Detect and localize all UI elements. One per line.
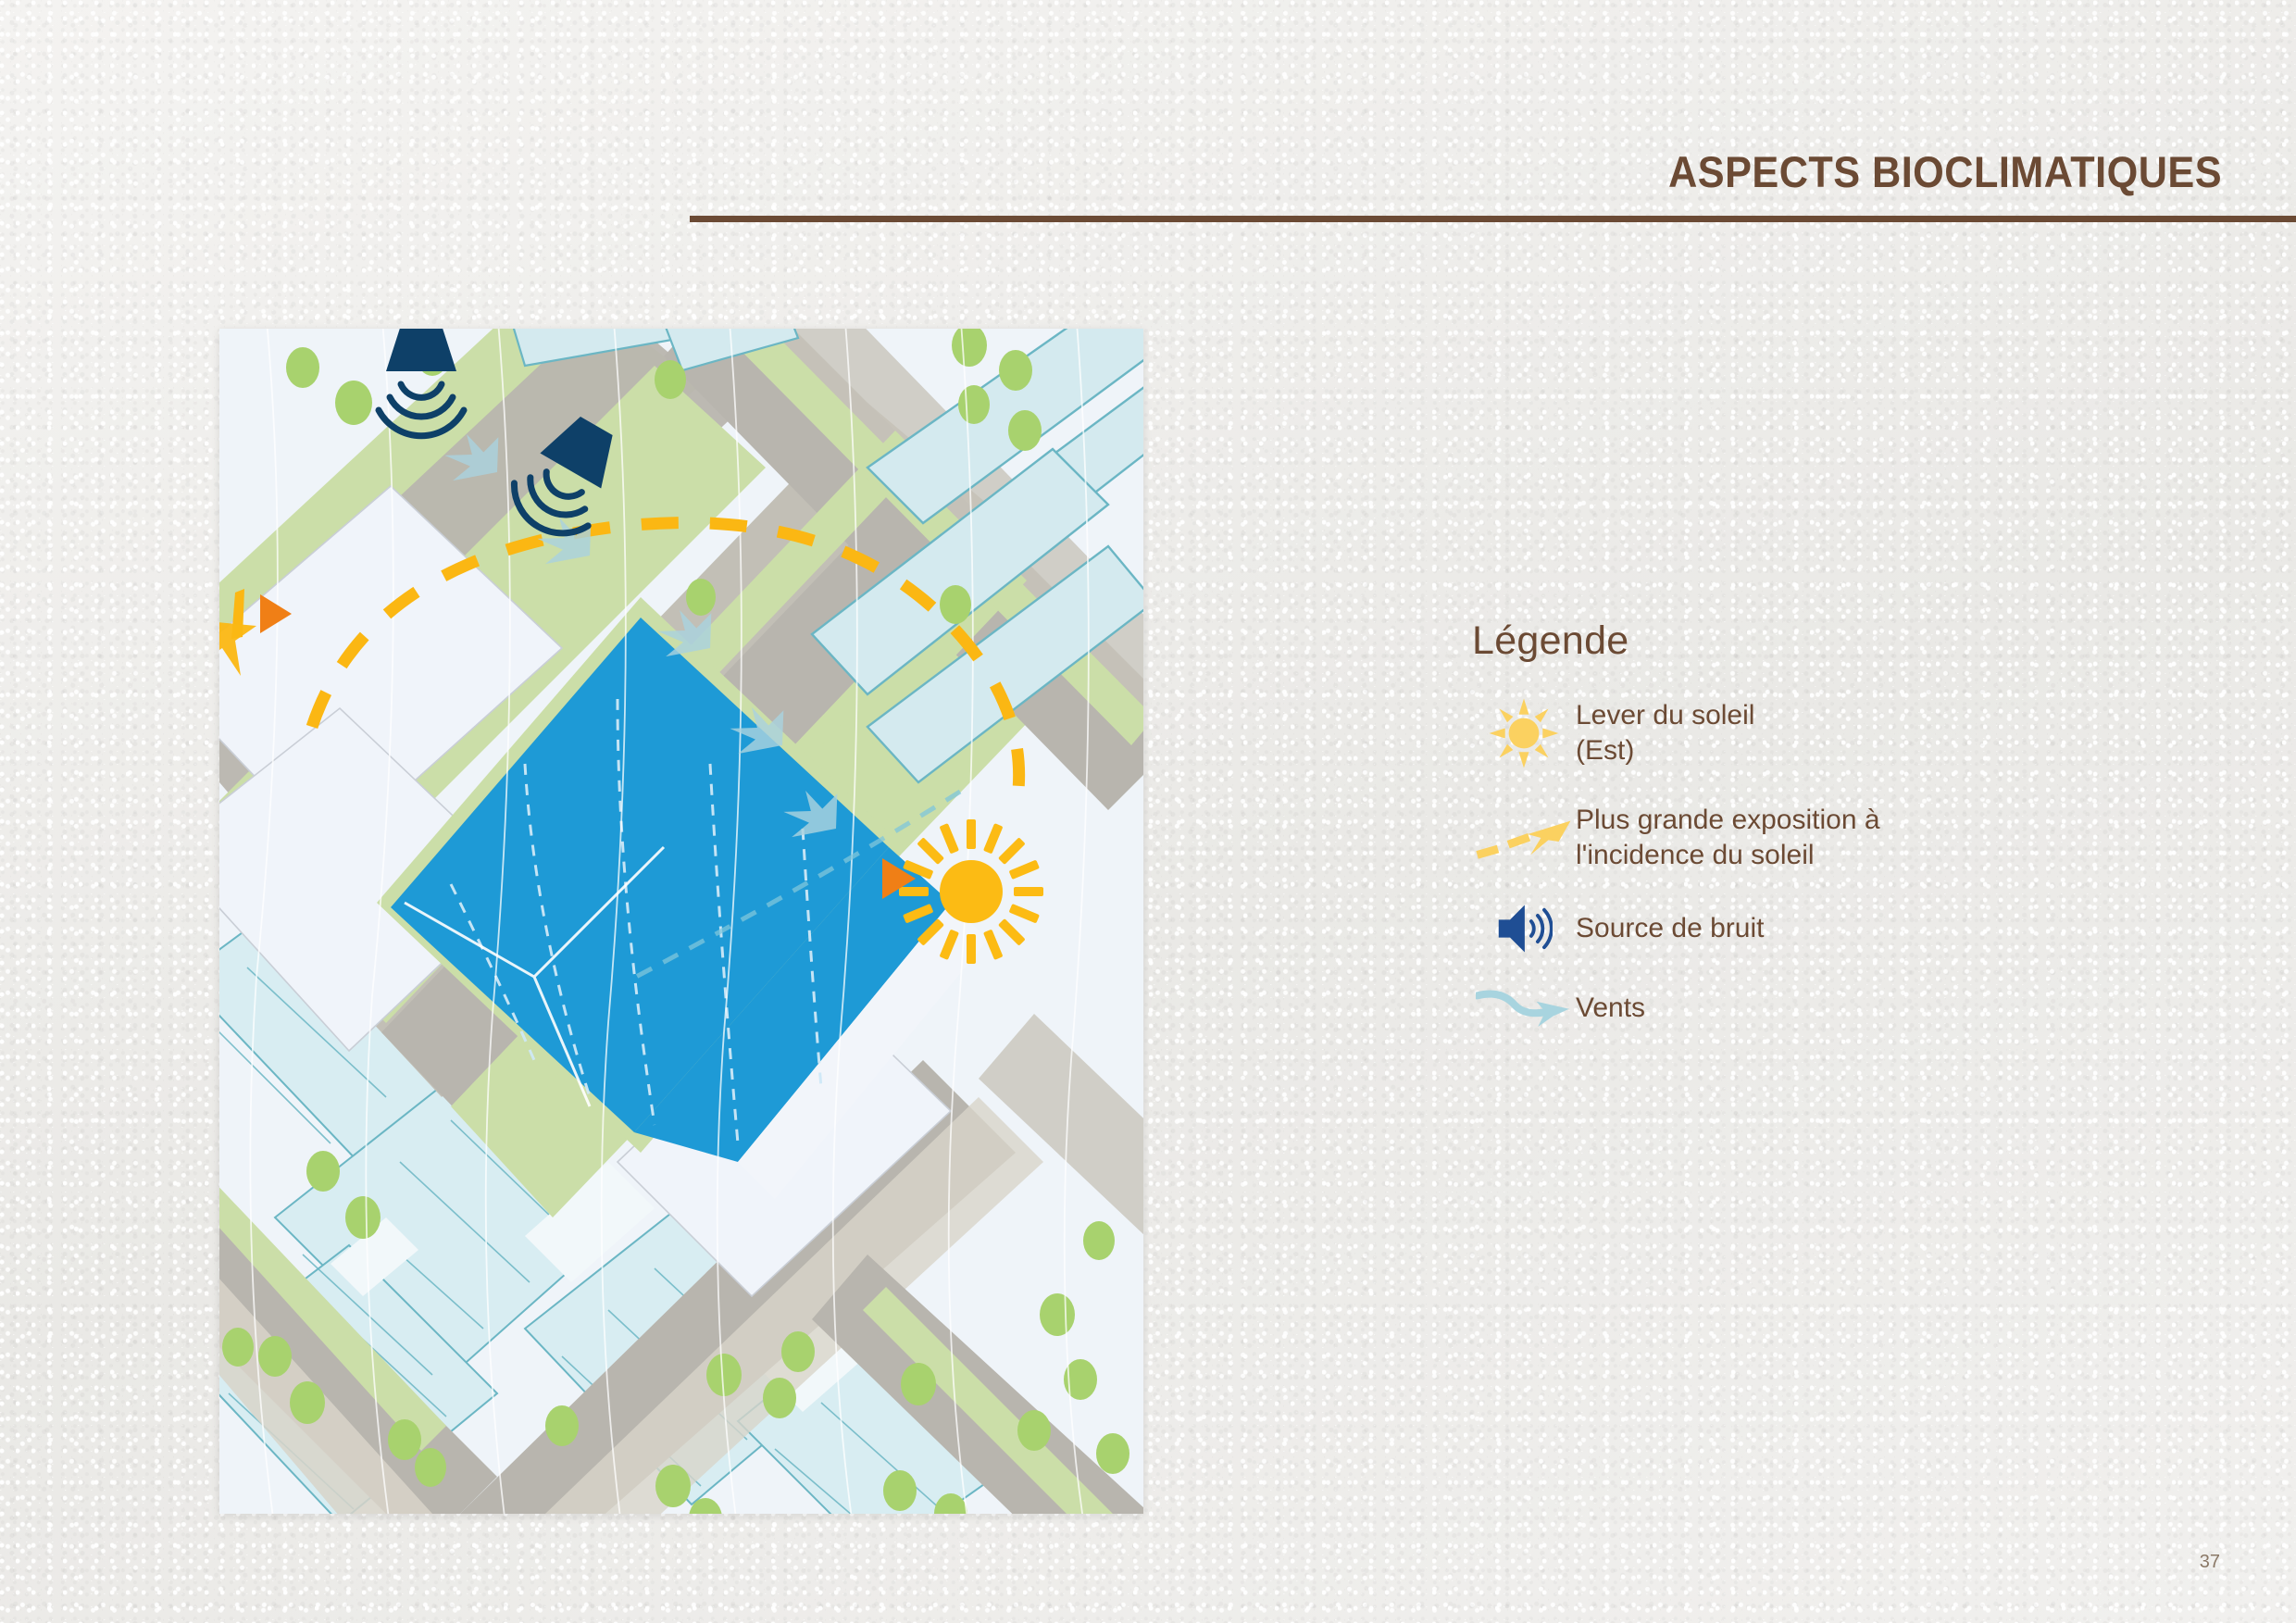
- legend-panel: Légende Lever: [1472, 618, 2213, 1056]
- legend-item-solar-exposure: Plus grande exposition à l'incidence du …: [1472, 803, 2213, 873]
- dashed-arrow-icon: [1472, 813, 1576, 863]
- sun-icon: [1472, 697, 1576, 769]
- speaker-icon: [1472, 902, 1576, 955]
- legend-label-solar-exposure: Plus grande exposition à l'incidence du …: [1576, 803, 1880, 873]
- legend-label-noise-source: Source de bruit: [1576, 911, 1764, 946]
- sun-marker: [899, 819, 1043, 964]
- title-divider: [690, 216, 2296, 222]
- page-number: 37: [2200, 1552, 2220, 1573]
- legend-label-sunrise: Lever du soleil (Est): [1576, 698, 1754, 768]
- legend-item-sunrise: Lever du soleil (Est): [1472, 697, 2213, 769]
- legend-item-winds: Vents: [1472, 980, 2213, 1036]
- wind-arrow-icon: [1472, 985, 1576, 1031]
- site-context-map[interactable]: [219, 329, 1143, 1514]
- page-title: ASPECTS BIOCLIMATIQUES: [808, 146, 2222, 197]
- legend-item-noise-source: Source de bruit: [1472, 901, 2213, 956]
- legend-title: Légende: [1472, 618, 2213, 664]
- legend-label-winds: Vents: [1576, 991, 1645, 1026]
